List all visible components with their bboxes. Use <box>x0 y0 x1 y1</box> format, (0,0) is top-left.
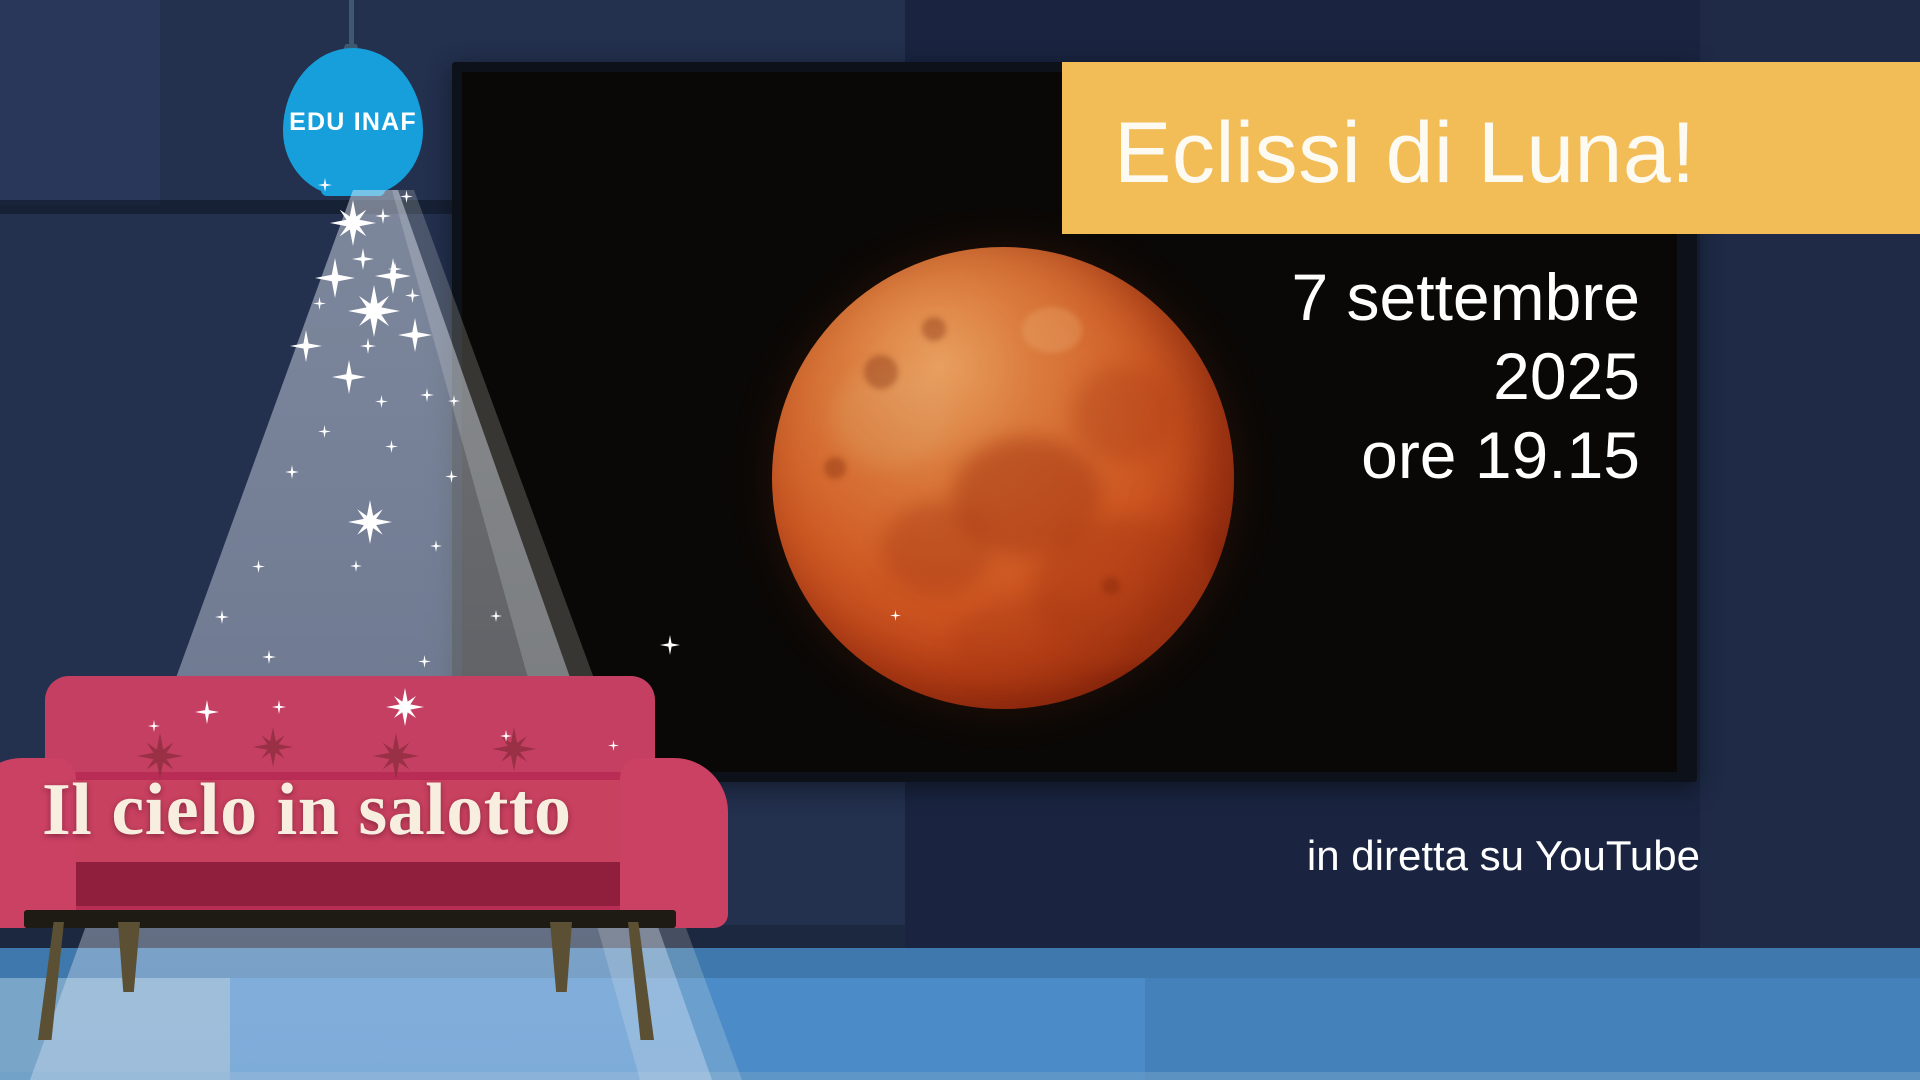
event-date-line-1: 7 settembre <box>1060 258 1640 337</box>
lunar-crater <box>824 457 846 479</box>
broadcast-channel-text: in diretta su YouTube <box>900 832 1700 880</box>
event-time-line: ore 19.15 <box>1060 416 1640 495</box>
lunar-mare <box>882 502 992 597</box>
sofa-arm-right <box>620 758 728 928</box>
lunar-crater <box>864 355 898 389</box>
lunar-mare <box>952 597 1122 687</box>
floor-light-patch <box>0 978 230 1080</box>
lamp-cord <box>349 0 354 48</box>
wall-panel-corner-light <box>0 0 160 205</box>
title-text: Eclissi di Luna! <box>1114 110 1696 196</box>
lunar-crater <box>922 317 946 341</box>
poster-canvas: EDU INAF <box>0 0 1920 1080</box>
lunar-crater <box>1102 577 1120 595</box>
edu-inaf-logo-text: EDU INAF <box>283 108 423 137</box>
sofa-seat-shadow <box>30 862 675 906</box>
title-banner: Eclissi di Luna! <box>1062 62 1920 234</box>
series-title-text: Il cielo in salotto <box>42 768 572 853</box>
floor-dark-patch <box>1145 978 1920 1080</box>
event-date-line-2: 2025 <box>1060 337 1640 416</box>
floor-baseboard-line <box>0 1072 1920 1080</box>
event-datetime: 7 settembre 2025 ore 19.15 <box>1060 258 1640 496</box>
lamp-shade-base <box>321 178 385 196</box>
